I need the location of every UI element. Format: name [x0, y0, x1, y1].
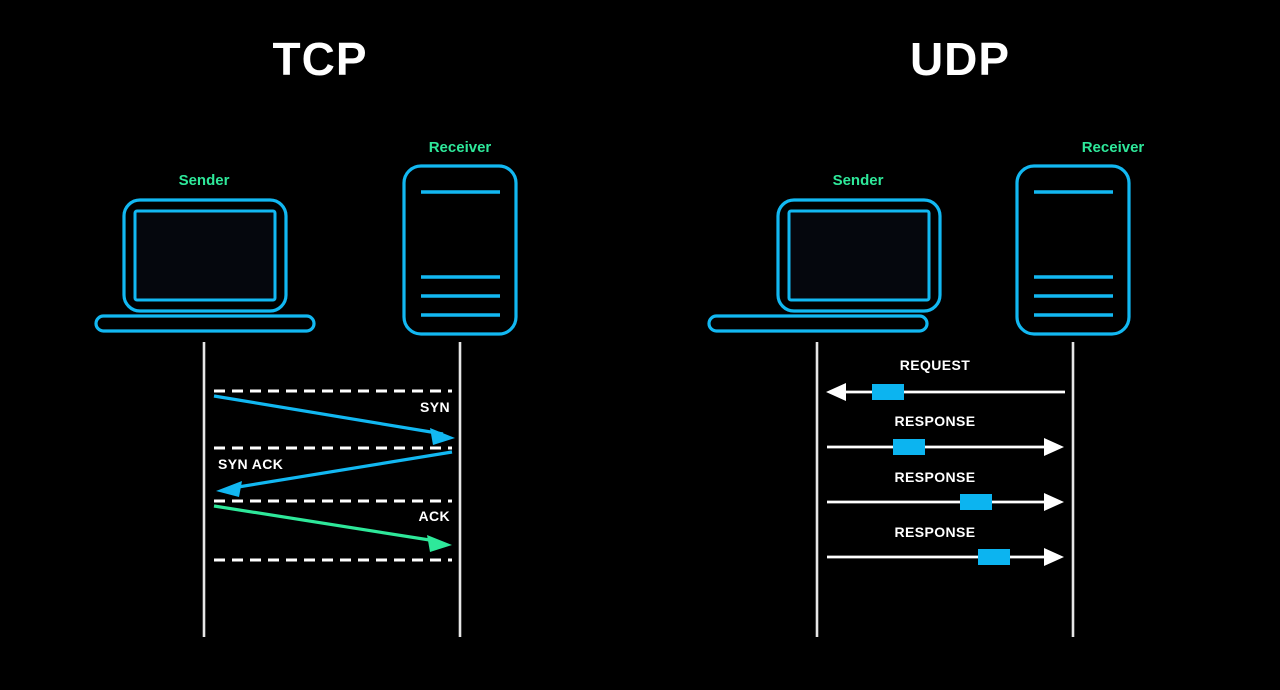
udp-packet-block-request [872, 384, 904, 400]
udp-graphics [640, 0, 1280, 690]
panel-udp: UDP Sender Receiver [640, 0, 1280, 690]
panel-tcp: TCP Sender Receiver [0, 0, 640, 690]
udp-receiver-server-icon [1017, 166, 1129, 334]
udp-message-arrow-response-1 [827, 438, 1064, 456]
tcp-sender-laptop-icon [96, 200, 314, 331]
diagram-canvas: TCP Sender Receiver [0, 0, 1280, 690]
udp-message-arrow-response-3 [827, 548, 1064, 566]
udp-packet-block-response-1 [893, 439, 925, 455]
udp-label-response-3: RESPONSE [845, 524, 1025, 540]
udp-packet-block-response-3 [978, 549, 1010, 565]
udp-label-response-1: RESPONSE [845, 413, 1025, 429]
udp-label-response-2: RESPONSE [845, 469, 1025, 485]
tcp-label-ack: ACK [300, 508, 450, 524]
tcp-label-syn-ack: SYN ACK [218, 456, 398, 472]
udp-packet-block-response-2 [960, 494, 992, 510]
udp-sender-laptop-icon [709, 200, 940, 331]
udp-message-arrow-request [826, 383, 1065, 401]
tcp-receiver-server-icon [404, 166, 516, 334]
tcp-graphics [0, 0, 640, 690]
udp-message-arrow-response-2 [827, 493, 1064, 511]
tcp-label-syn: SYN [300, 399, 450, 415]
udp-label-request: REQUEST [845, 357, 1025, 373]
